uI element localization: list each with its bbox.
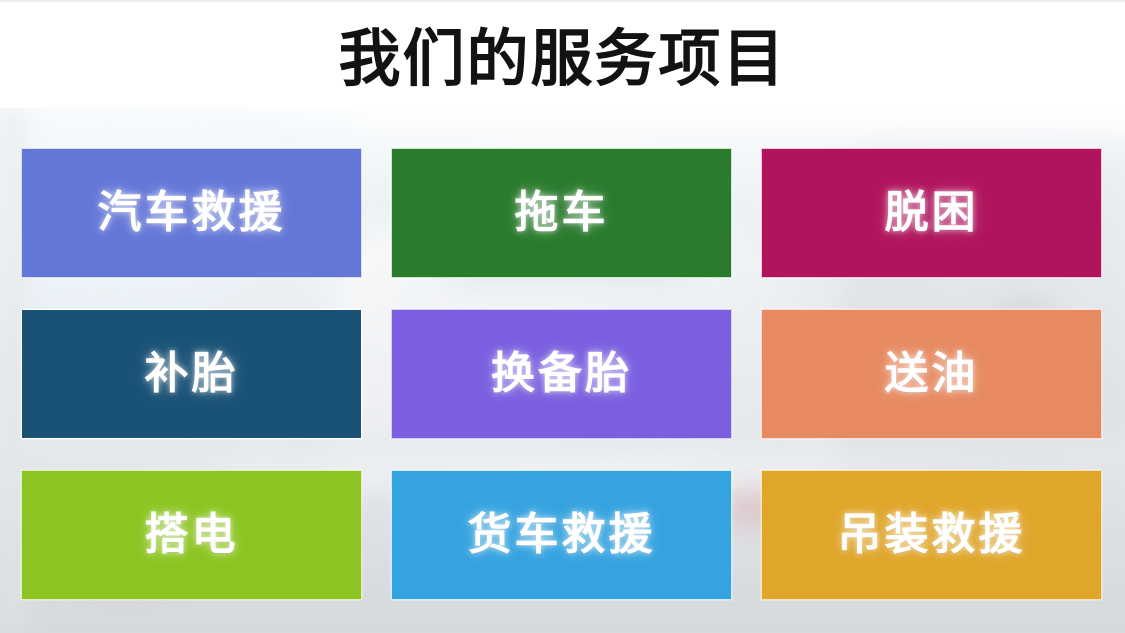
page-title: 我们的服务项目 xyxy=(0,20,1125,100)
service-tile-label: 吊装救援 xyxy=(838,513,1026,557)
service-tile-jump-start[interactable]: 搭电 xyxy=(21,470,362,600)
service-tile-extrication[interactable]: 脱困 xyxy=(761,148,1102,278)
service-poster: 我们的服务项目 汽车救援拖车脱困补胎换备胎送油搭电货车救援吊装救援 xyxy=(0,0,1125,633)
service-tile-label: 货车救援 xyxy=(468,513,656,557)
service-tile-tow-truck[interactable]: 拖车 xyxy=(391,148,732,278)
service-tile-label: 补胎 xyxy=(145,352,239,396)
service-tile-label: 换备胎 xyxy=(491,352,632,396)
top-hairline xyxy=(0,0,1125,3)
service-tile-tire-repair[interactable]: 补胎 xyxy=(21,309,362,439)
service-tile-label: 送油 xyxy=(885,352,979,396)
service-tile-grid: 汽车救援拖车脱困补胎换备胎送油搭电货车救援吊装救援 xyxy=(21,148,1102,600)
service-tile-spare-tire[interactable]: 换备胎 xyxy=(391,309,732,439)
service-tile-truck-rescue[interactable]: 货车救援 xyxy=(391,470,732,600)
service-tile-label: 汽车救援 xyxy=(98,191,286,235)
service-tile-label: 搭电 xyxy=(145,513,239,557)
service-tile-label: 脱困 xyxy=(885,191,979,235)
service-tile-label: 拖车 xyxy=(515,191,609,235)
service-tile-fuel-delivery[interactable]: 送油 xyxy=(761,309,1102,439)
service-tile-car-rescue[interactable]: 汽车救援 xyxy=(21,148,362,278)
service-tile-crane-rescue[interactable]: 吊装救援 xyxy=(761,470,1102,600)
